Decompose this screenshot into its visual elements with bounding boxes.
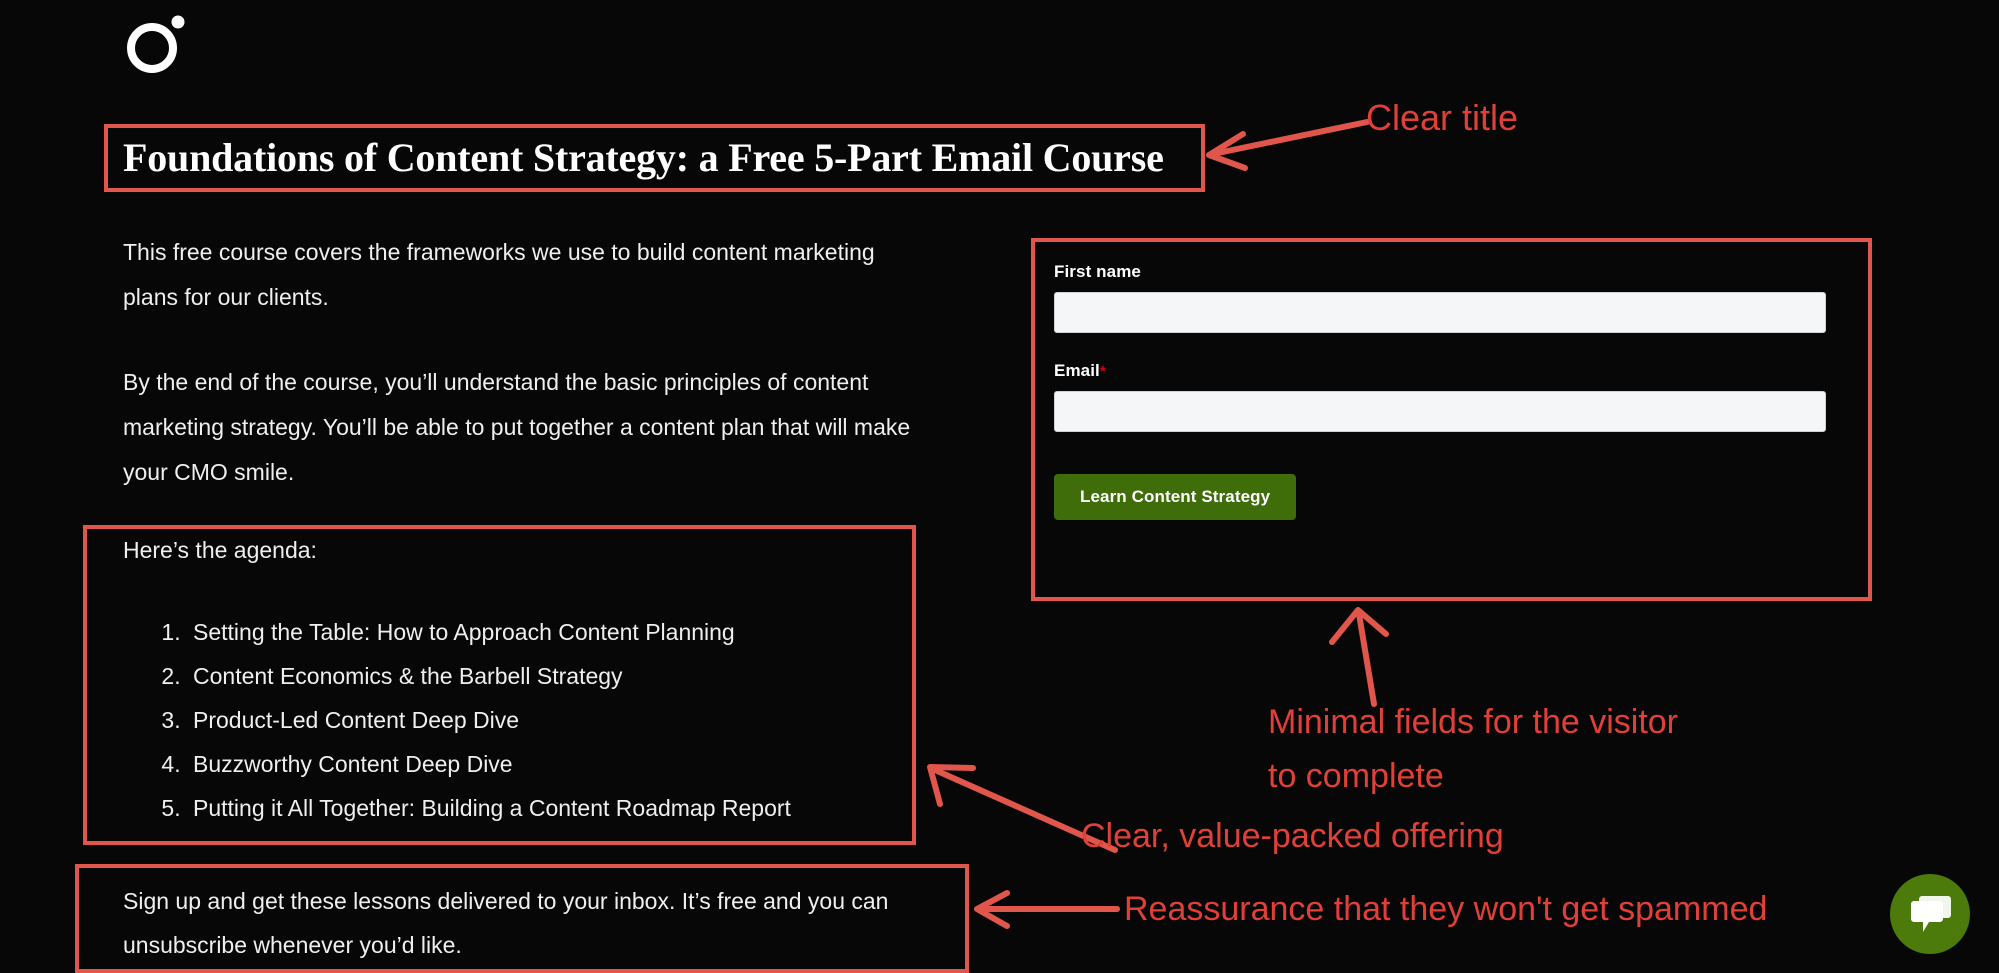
first-name-label: First name <box>1054 262 1849 282</box>
page-title: Foundations of Content Strategy: a Free … <box>123 131 1183 185</box>
chat-bubble-icon <box>1910 894 1952 934</box>
signup-form: First name Email* Learn Content Strategy <box>1054 262 1849 520</box>
o-logo-icon <box>122 10 194 76</box>
annotation-label-reassurance: Reassurance that they won't get spammed <box>1124 890 1767 929</box>
list-item: Buzzworthy Content Deep Dive <box>187 742 791 786</box>
annotation-label-offering: Clear, value-packed offering <box>1081 817 1504 856</box>
field-spacer <box>1054 333 1849 361</box>
intro-paragraph-1: This free course covers the frameworks w… <box>123 230 923 320</box>
annotation-arrow-reassurance <box>965 888 1125 936</box>
first-name-input[interactable] <box>1054 292 1826 333</box>
chat-widget-button[interactable] <box>1890 874 1970 954</box>
agenda-list: Setting the Table: How to Approach Conte… <box>125 610 791 830</box>
intro-paragraph-2: By the end of the course, you’ll underst… <box>123 360 923 495</box>
body-copy: This free course covers the frameworks w… <box>123 230 923 495</box>
annotation-label-minimal-fields: Minimal fields for the visitorto complet… <box>1268 695 1678 803</box>
list-item: Content Economics & the Barbell Strategy <box>187 654 791 698</box>
required-asterisk: * <box>1100 363 1106 380</box>
submit-button[interactable]: Learn Content Strategy <box>1054 474 1296 520</box>
list-item: Product-Led Content Deep Dive <box>187 698 791 742</box>
email-input[interactable] <box>1054 391 1826 432</box>
list-item: Putting it All Together: Building a Cont… <box>187 786 791 830</box>
email-label: Email* <box>1054 361 1849 381</box>
button-spacer <box>1054 432 1849 474</box>
list-item: Setting the Table: How to Approach Conte… <box>187 610 791 654</box>
reassurance-text: Sign up and get these lessons delivered … <box>123 879 953 967</box>
landing-page-canvas: Foundations of Content Strategy: a Free … <box>0 0 1999 973</box>
email-label-text: Email <box>1054 361 1100 380</box>
agenda-lead-in: Here’s the agenda: <box>123 534 317 566</box>
annotation-arrow-title <box>1195 110 1375 180</box>
first-name-label-text: First name <box>1054 262 1141 281</box>
annotation-label-clear-title: Clear title <box>1366 97 1518 139</box>
